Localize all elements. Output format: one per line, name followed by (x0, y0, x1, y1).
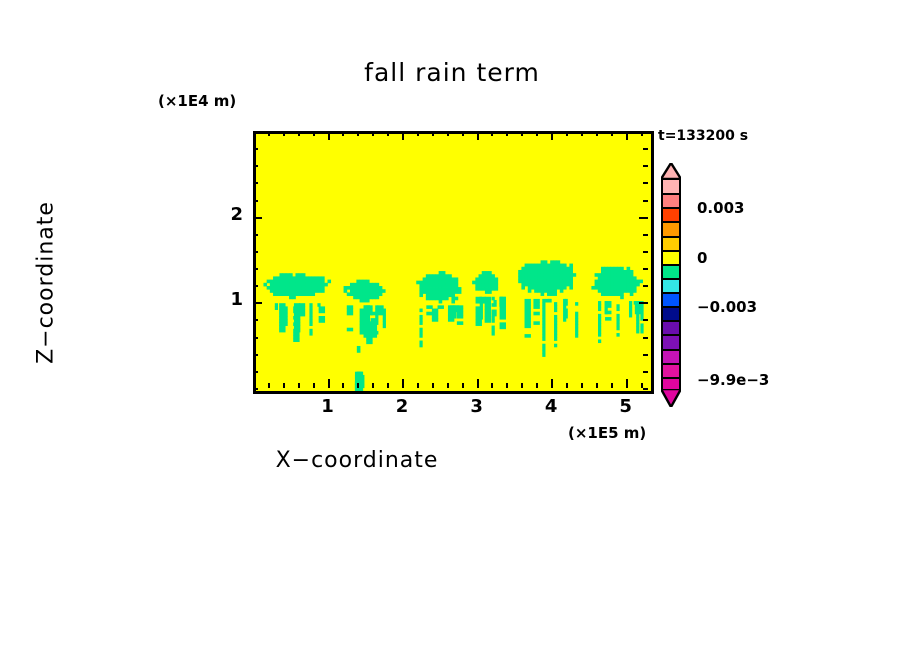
page-title: fall rain term (0, 58, 904, 87)
colorbar-band (663, 350, 679, 365)
x-axis-unit-label: (×1E5 m) (568, 424, 646, 442)
colorbar-band (663, 265, 679, 280)
y-axis-unit-label: (×1E4 m) (158, 92, 236, 110)
plot-area (253, 131, 654, 394)
colorbar-tick-label: 0.003 (697, 199, 744, 217)
y-axis-title: Z−coordinate (34, 153, 59, 413)
colorbar-band-divider (663, 292, 679, 294)
colorbar-band (663, 251, 679, 266)
x-tick-label: 4 (536, 396, 566, 417)
colorbar-band-divider (663, 377, 679, 379)
x-tick-label: 5 (611, 396, 641, 417)
colorbar-band (663, 222, 679, 237)
colorbar-band-divider (663, 221, 679, 223)
colorbar-band-divider (663, 250, 679, 252)
colorbar-band-divider (663, 193, 679, 195)
x-axis-title: X−coordinate (0, 448, 904, 473)
colorbar-band-divider (663, 278, 679, 280)
heatmap-field (256, 134, 651, 391)
colorbar-band (663, 307, 679, 322)
colorbar-band (663, 293, 679, 308)
x-tick-label: 3 (462, 396, 492, 417)
colorbar-arrow-down (661, 389, 681, 407)
colorbar-band-divider (663, 207, 679, 209)
colorbar-band-divider (663, 363, 679, 365)
colorbar-body (661, 178, 681, 390)
timestamp-label: t=133200 s (658, 128, 748, 144)
colorbar-band (663, 378, 679, 393)
colorbar-arrow-up (661, 163, 681, 179)
colorbar-band (663, 321, 679, 336)
colorbar-tick-label: −9.9e−3 (697, 371, 769, 389)
colorbar-tick-label: 0 (697, 249, 707, 267)
colorbar-band-divider (663, 320, 679, 322)
colorbar-band (663, 194, 679, 209)
x-tick-label: 2 (387, 396, 417, 417)
x-axis-title-text: X−coordinate (276, 448, 439, 473)
x-tick-label: 1 (313, 396, 343, 417)
colorbar-band (663, 237, 679, 252)
colorbar-tick-label: −0.003 (697, 298, 757, 316)
colorbar-band-divider (663, 306, 679, 308)
colorbar-band (663, 279, 679, 294)
colorbar-band-divider (663, 349, 679, 351)
y-tick-label: 2 (213, 204, 243, 225)
colorbar-band-divider (663, 334, 679, 336)
colorbar-band (663, 208, 679, 223)
colorbar-band (663, 180, 679, 195)
y-tick-label: 1 (213, 289, 243, 310)
colorbar-band-divider (663, 236, 679, 238)
colorbar-band-divider (663, 264, 679, 266)
colorbar-band (663, 364, 679, 379)
colorbar-band (663, 335, 679, 350)
